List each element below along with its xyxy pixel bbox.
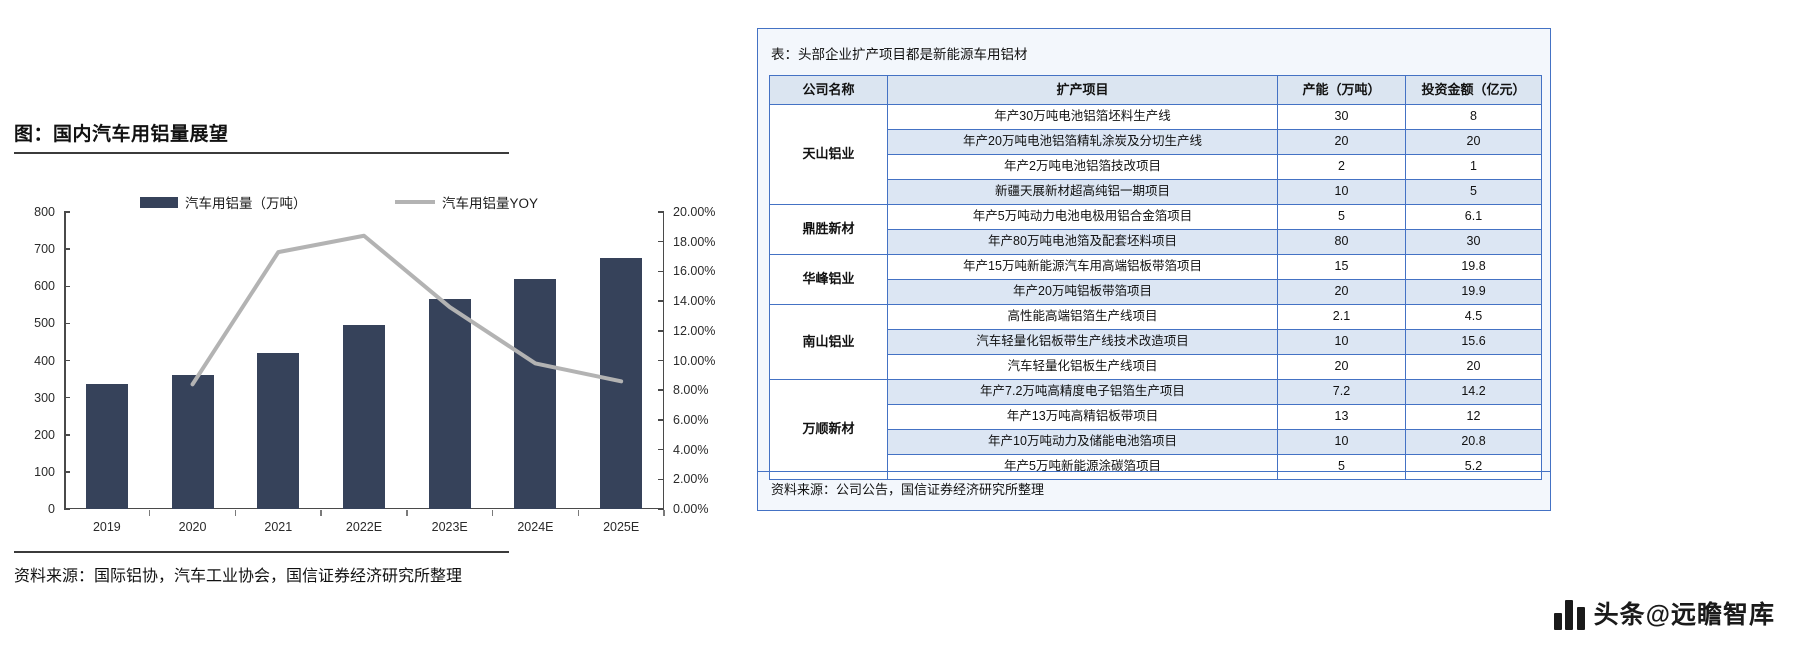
cell-project: 年产2万吨电池铝箔技改项目 [888,155,1278,180]
y-axis-right-tick-label: 0.00% [673,502,708,516]
cell-investment: 19.8 [1406,255,1542,280]
source-divider [14,551,509,553]
cell-investment: 4.5 [1406,305,1542,330]
table-head: 公司名称 扩产项目 产能（万吨） 投资金额（亿元） [770,76,1542,105]
table-panel: 表：头部企业扩产项目都是新能源车用铝材 公司名称 扩产项目 产能（万吨） 投资金… [757,28,1551,511]
y-axis-left-tick-label: 0 [48,502,55,516]
cell-capacity: 30 [1278,105,1406,130]
y-axis-right-tick-label: 6.00% [673,413,708,427]
col-header-investment: 投资金额（亿元） [1406,76,1542,105]
cell-project: 年产5万吨动力电池电极用铝合金箔项目 [888,205,1278,230]
cell-company: 鼎胜新材 [770,205,888,255]
table-row: 鼎胜新材年产5万吨动力电池电极用铝合金箔项目56.1 [770,205,1542,230]
legend-label-line: 汽车用铝量YOY [442,192,538,212]
y-axis-left-tick-label: 100 [34,465,55,479]
x-axis-tick [578,510,580,516]
cell-project: 汽车轻量化铝板带生产线技术改造项目 [888,330,1278,355]
cell-investment: 14.2 [1406,380,1542,405]
col-header-capacity: 产能（万吨） [1278,76,1406,105]
watermark-text: 头条@远瞻智库 [1594,595,1775,631]
col-header-project: 扩产项目 [888,76,1278,105]
chart-panel: 图：国内汽车用铝量展望 汽车用铝量（万吨） 汽车用铝量YOY 010020030… [0,0,760,645]
cell-investment: 20 [1406,355,1542,380]
cell-company: 万顺新材 [770,380,888,480]
y-axis-left-tick-label: 600 [34,279,55,293]
cell-capacity: 20 [1278,280,1406,305]
cell-company: 南山铝业 [770,305,888,380]
toutiao-logo-icon [1554,596,1585,630]
y-axis-right-tick-label: 2.00% [673,472,708,486]
cell-project: 年产13万吨高精铝板带项目 [888,405,1278,430]
cell-investment: 15.6 [1406,330,1542,355]
cell-investment: 12 [1406,405,1542,430]
cell-investment: 5 [1406,180,1542,205]
x-axis-tick-label: 2025E [603,520,639,534]
y-axis-right-tick-label: 14.00% [673,294,715,308]
cell-capacity: 80 [1278,230,1406,255]
expansion-projects-table: 公司名称 扩产项目 产能（万吨） 投资金额（亿元） 天山铝业年产30万吨电池铝箔… [769,75,1542,480]
x-axis-tick [663,510,665,516]
table-title: 表：头部企业扩产项目都是新能源车用铝材 [771,43,1028,63]
y-axis-left-tick-label: 500 [34,316,55,330]
cell-investment: 6.1 [1406,205,1542,230]
cell-capacity: 20 [1278,130,1406,155]
cell-investment: 5.2 [1406,455,1542,480]
table-source-note: 资料来源：公司公告，国信证券经济研究所整理 [771,479,1044,498]
cell-project: 年产80万吨电池箔及配套坯料项目 [888,230,1278,255]
y-axis-right-tick-label: 12.00% [673,324,715,338]
cell-capacity: 20 [1278,355,1406,380]
cell-project: 年产20万吨电池铝箔精轧涂炭及分切生产线 [888,130,1278,155]
cell-investment: 20.8 [1406,430,1542,455]
cell-project: 年产10万吨动力及储能电池箔项目 [888,430,1278,455]
cell-project: 年产20万吨铝板带箔项目 [888,280,1278,305]
cell-investment: 30 [1406,230,1542,255]
cell-project: 高性能高端铝箔生产线项目 [888,305,1278,330]
chart-legend: 汽车用铝量（万吨） 汽车用铝量YOY [140,192,610,214]
x-axis-tick [149,510,151,516]
x-axis-tick [492,510,494,516]
x-axis-tick-label: 2020 [179,520,207,534]
cell-investment: 1 [1406,155,1542,180]
cell-capacity: 5 [1278,205,1406,230]
table-source-divider [758,471,1550,473]
cell-project: 年产30万吨电池铝箔坯料生产线 [888,105,1278,130]
cell-project: 年产5万吨新能源涂碳箔项目 [888,455,1278,480]
yoy-line-path [193,236,622,385]
table-row: 天山铝业年产30万吨电池铝箔坯料生产线308 [770,105,1542,130]
table-header-row: 公司名称 扩产项目 产能（万吨） 投资金额（亿元） [770,76,1542,105]
cell-company: 天山铝业 [770,105,888,205]
y-axis-left-tick-label: 300 [34,391,55,405]
y-axis-right-tick-label: 8.00% [673,383,708,397]
cell-project: 新疆天展新材超高纯铝一期项目 [888,180,1278,205]
y-axis-left-tick-label: 200 [34,428,55,442]
x-axis-tick [235,510,237,516]
cell-capacity: 15 [1278,255,1406,280]
line-series-layer [64,212,664,509]
y-axis-right-tick-label: 10.00% [673,354,715,368]
x-axis-tick-label: 2022E [346,520,382,534]
cell-project: 年产7.2万吨高精度电子铝箔生产项目 [888,380,1278,405]
col-header-company: 公司名称 [770,76,888,105]
chart-plot-area: 0100200300400500600700800 0.00%2.00%4.00… [64,212,664,509]
cell-project: 年产15万吨新能源汽车用高端铝板带箔项目 [888,255,1278,280]
legend-item-bar: 汽车用铝量（万吨） [140,192,307,212]
x-axis-tick-label: 2024E [517,520,553,534]
cell-capacity: 13 [1278,405,1406,430]
cell-company: 华峰铝业 [770,255,888,305]
cell-capacity: 10 [1278,330,1406,355]
legend-label-bar: 汽车用铝量（万吨） [185,192,307,212]
table-row: 万顺新材年产7.2万吨高精度电子铝箔生产项目7.214.2 [770,380,1542,405]
cell-capacity: 10 [1278,180,1406,205]
title-divider [14,152,509,154]
x-axis-tick-label: 2021 [264,520,292,534]
y-axis-right-tick-label: 4.00% [673,443,708,457]
cell-investment: 8 [1406,105,1542,130]
x-axis-tick [320,510,322,516]
chart-source-note: 资料来源：国际铝协，汽车工业协会，国信证券经济研究所整理 [14,562,462,586]
cell-capacity: 2 [1278,155,1406,180]
x-axis-tick [406,510,408,516]
table-row: 南山铝业高性能高端铝箔生产线项目2.14.5 [770,305,1542,330]
watermark: 头条@远瞻智库 [1554,595,1775,631]
legend-swatch-line-icon [395,200,435,204]
legend-item-line: 汽车用铝量YOY [395,192,538,212]
y-axis-left-tick-label: 800 [34,205,55,219]
y-axis-right-tick-label: 20.00% [673,205,715,219]
cell-capacity: 10 [1278,430,1406,455]
y-axis-left-tick-label: 700 [34,242,55,256]
x-axis-tick-label: 2019 [93,520,121,534]
cell-investment: 19.9 [1406,280,1542,305]
table-body: 天山铝业年产30万吨电池铝箔坯料生产线308年产20万吨电池铝箔精轧涂炭及分切生… [770,105,1542,480]
cell-capacity: 5 [1278,455,1406,480]
y-axis-right-tick-label: 18.00% [673,235,715,249]
x-axis-tick-label: 2023E [432,520,468,534]
y-axis-left-tick-label: 400 [34,354,55,368]
cell-capacity: 2.1 [1278,305,1406,330]
table-row: 华峰铝业年产15万吨新能源汽车用高端铝板带箔项目1519.8 [770,255,1542,280]
chart-title: 图：国内汽车用铝量展望 [14,119,229,146]
cell-capacity: 7.2 [1278,380,1406,405]
cell-project: 汽车轻量化铝板生产线项目 [888,355,1278,380]
y-axis-right-tick-label: 16.00% [673,264,715,278]
cell-investment: 20 [1406,130,1542,155]
legend-swatch-bar-icon [140,197,178,208]
